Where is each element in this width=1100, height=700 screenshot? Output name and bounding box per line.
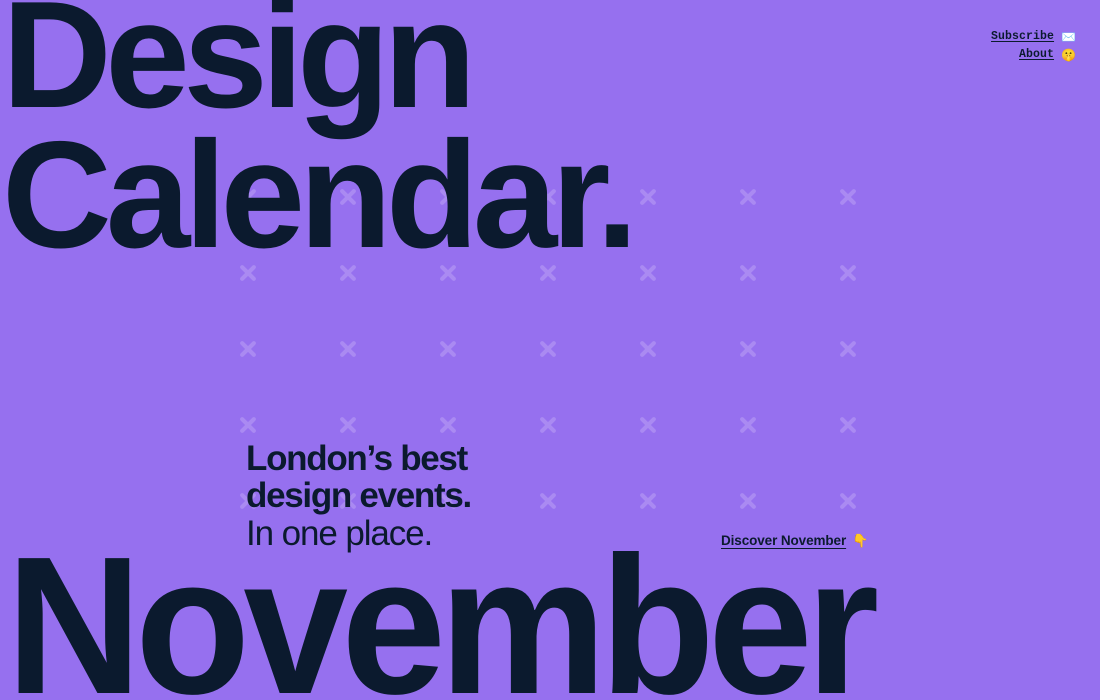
x-mark-icon [838, 187, 858, 207]
x-mark-icon [438, 339, 458, 359]
x-mark-icon [338, 339, 358, 359]
x-mark-icon [538, 491, 558, 511]
nav-link-about-label[interactable]: About [1019, 48, 1054, 61]
x-mark-icon [738, 187, 758, 207]
discover-november-link[interactable]: Discover November 👇 [721, 533, 868, 548]
cta-label[interactable]: Discover November [721, 533, 846, 548]
nav-item-about[interactable]: About 🤫 [991, 48, 1076, 61]
subcopy-light-line: In one place. [246, 515, 471, 552]
hero-headline: Design Calendar. [2, 0, 632, 266]
hero-headline-line-1: Design [2, 0, 632, 126]
x-mark-icon [638, 263, 658, 283]
x-mark-icon [738, 415, 758, 435]
x-mark-icon [738, 339, 758, 359]
x-mark-icon [638, 339, 658, 359]
x-mark-icon [538, 339, 558, 359]
x-mark-icon [838, 415, 858, 435]
nav-item-subscribe[interactable]: Subscribe ✉️ [991, 30, 1076, 43]
shushing-face-icon: 🤫 [1061, 49, 1076, 61]
nav-link-subscribe-label[interactable]: Subscribe [991, 30, 1054, 43]
x-mark-icon [238, 339, 258, 359]
x-mark-icon [638, 415, 658, 435]
x-mark-icon [638, 187, 658, 207]
x-mark-icon [738, 491, 758, 511]
x-mark-icon [438, 415, 458, 435]
page-canvas: Design Calendar. Subscribe ✉️ About 🤫 Lo… [0, 0, 1100, 700]
x-mark-icon [838, 263, 858, 283]
top-nav: Subscribe ✉️ About 🤫 [991, 30, 1076, 66]
x-mark-icon [338, 415, 358, 435]
subcopy-bold-line-1: London’s best [246, 440, 471, 477]
x-mark-icon [838, 491, 858, 511]
hero-subcopy: London’s best design events. In one plac… [246, 440, 471, 552]
x-mark-icon [538, 415, 558, 435]
month-display: November [6, 536, 872, 700]
x-mark-icon [738, 263, 758, 283]
x-mark-icon [838, 339, 858, 359]
x-mark-icon [238, 415, 258, 435]
envelope-icon: ✉️ [1061, 31, 1076, 43]
x-mark-icon [638, 491, 658, 511]
subcopy-bold-line-2: design events. [246, 477, 471, 514]
pointing-down-icon: 👇 [852, 534, 868, 547]
hero-headline-line-2: Calendar. [2, 126, 632, 266]
